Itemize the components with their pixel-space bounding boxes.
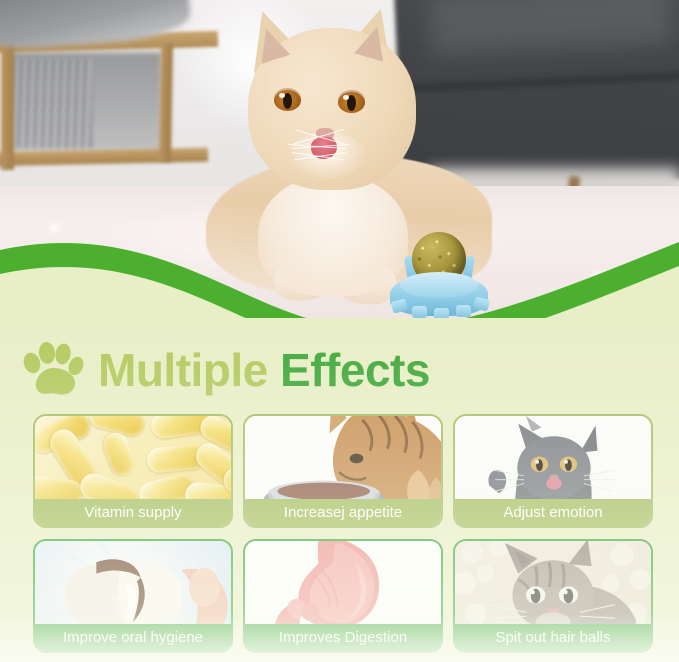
paw-print-icon [22, 342, 84, 398]
card-label: Spit out hair balls [455, 624, 651, 651]
effect-card-increase-appetite[interactable]: Increasej appetite [243, 414, 443, 528]
effect-card-vitamin-supply[interactable]: Vitamin supply [33, 414, 233, 528]
bench-leg-left [1, 40, 14, 170]
effects-grid: Vitamin supply [33, 414, 653, 653]
card-label: Improve oral hygiene [35, 624, 231, 651]
effect-card-improves-digestion[interactable]: Improves Digestion [243, 539, 443, 653]
bench-leg-right [159, 44, 173, 162]
cat-eye-glint-left [279, 93, 285, 98]
effect-card-spit-out-hair-balls[interactable]: Spit out hair balls [453, 539, 653, 653]
title-part-dark: Effects [268, 344, 430, 396]
effect-card-adjust-emotion[interactable]: Adjust emotion [453, 414, 653, 528]
card-label: Increasej appetite [245, 499, 441, 526]
page-title: Multiple Effects [98, 347, 430, 393]
product-infographic: Multiple Effects Vitamin supply [0, 0, 679, 662]
cat-eye-glint-right [343, 95, 349, 100]
bench-shadow-stripes [12, 58, 92, 148]
card-label: Improves Digestion [245, 624, 441, 651]
card-label: Vitamin supply [35, 499, 231, 526]
effect-card-oral-hygiene[interactable]: Improve oral hygiene [33, 539, 233, 653]
title-part-light: Multiple [98, 344, 268, 396]
section-heading: Multiple Effects [22, 342, 430, 398]
effects-panel: Multiple Effects Vitamin supply [0, 318, 679, 662]
card-label: Adjust emotion [455, 499, 651, 526]
